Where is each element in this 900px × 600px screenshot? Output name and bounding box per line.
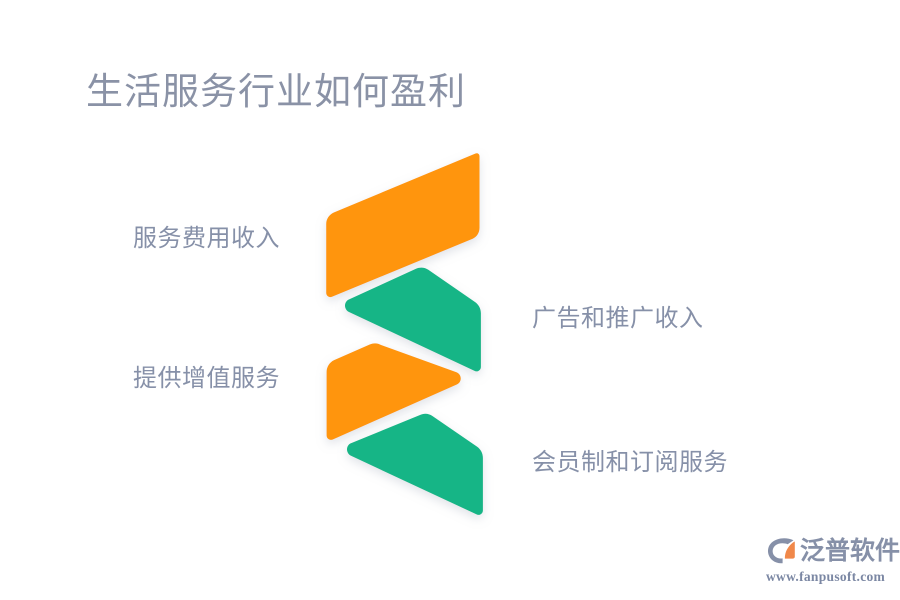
brand-name: 泛普软件 xyxy=(800,536,900,566)
funnel-label-4: 会员制和订阅服务 xyxy=(532,446,728,480)
funnel-diagram xyxy=(310,140,500,530)
funnel-label-2: 广告和推广收入 xyxy=(532,302,704,336)
funnel-label-3: 提供增值服务 xyxy=(133,362,280,396)
brand-url: www.fanpusoft.com xyxy=(766,569,894,585)
brand-watermark: 泛普软件 www.fanpusoft.com xyxy=(766,534,894,590)
funnel-label-1: 服务费用收入 xyxy=(133,222,280,256)
funnel-segment-4-shape xyxy=(347,414,483,515)
infographic-canvas: 生活服务行业如何盈利 服务费用收入 广告和推广收入 提供增值服务 会员制和订阅服… xyxy=(0,0,900,600)
page-title: 生活服务行业如何盈利 xyxy=(86,68,466,118)
brand-logo-row: 泛普软件 xyxy=(766,534,894,568)
fanpu-logo-icon xyxy=(766,536,798,566)
